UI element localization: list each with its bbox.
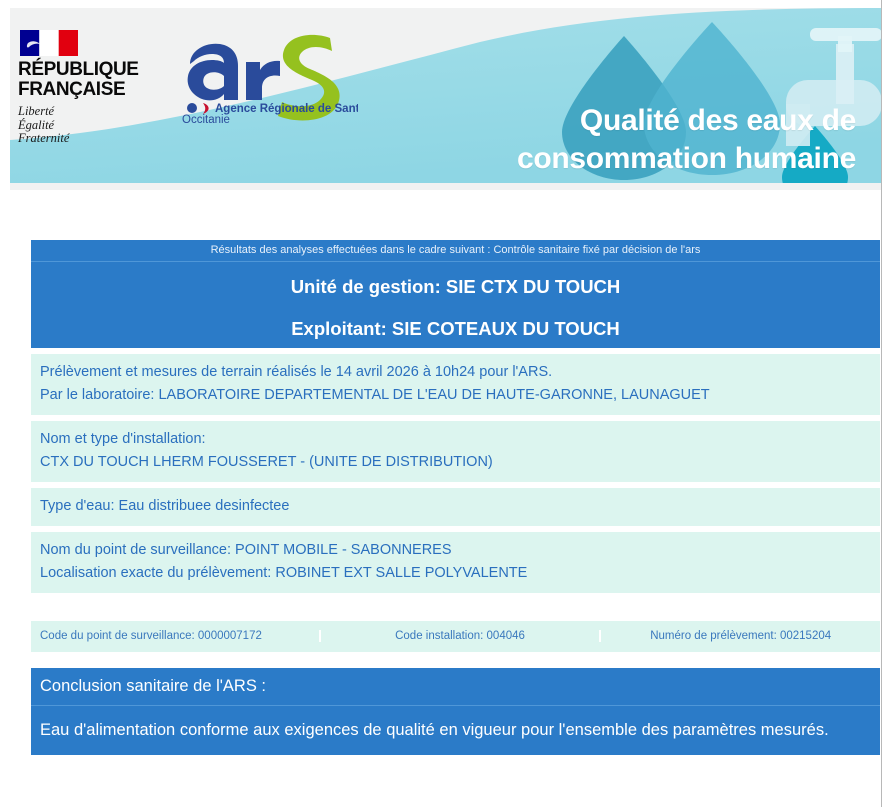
- monitoring-point-line: Nom du point de surveillance: POINT MOBI…: [40, 539, 871, 562]
- numero-prelevement: Numéro de prélèvement: 00215204: [601, 630, 880, 642]
- conclusion-panel: Conclusion sanitaire de l'ARS : Eau d'al…: [31, 668, 880, 755]
- rf-line-1: RÉPUBLIQUE: [18, 60, 178, 80]
- report-context-strip: Résultats des analyses effectuées dans l…: [31, 240, 880, 262]
- info-row-water-type: Type d'eau: Eau distribuee desinfectee: [31, 488, 880, 526]
- codes-row: Code du point de surveillance: 000000717…: [31, 621, 880, 652]
- installation-label: Nom et type d'installation:: [40, 428, 871, 451]
- motto-liberte: Liberté: [18, 105, 178, 119]
- republique-francaise-title: RÉPUBLIQUE FRANÇAISE: [18, 60, 178, 100]
- info-row-monitoring-point: Nom du point de surveillance: POINT MOBI…: [31, 532, 880, 593]
- ars-occitanie-logo: Agence Régionale de Santé Occitanie: [182, 30, 358, 124]
- page-right-rule: [881, 0, 882, 807]
- page-title-line-1: Qualité des eaux de: [336, 102, 856, 140]
- installation-value: CTX DU TOUCH LHERM FOUSSERET - (UNITE DE…: [40, 451, 871, 474]
- motto-fraternite: Fraternité: [18, 132, 178, 146]
- rf-line-2: FRANÇAISE: [18, 80, 178, 100]
- code-point-surveillance: Code du point de surveillance: 000000717…: [31, 630, 321, 642]
- spacer: [31, 593, 880, 621]
- page-header-banner: RÉPUBLIQUE FRANÇAISE Liberté Égalité Fra…: [10, 8, 882, 190]
- conclusion-body: Eau d'alimentation conforme aux exigence…: [31, 706, 880, 755]
- motto-egalite: Égalité: [18, 119, 178, 133]
- page-title-line-2: consommation humaine: [336, 140, 856, 178]
- exact-location-line: Localisation exacte du prélèvement: ROBI…: [40, 562, 871, 585]
- info-row-installation: Nom et type d'installation: CTX DU TOUCH…: [31, 421, 880, 482]
- republique-francaise-motto: Liberté Égalité Fraternité: [18, 105, 178, 146]
- republique-francaise-logo: RÉPUBLIQUE FRANÇAISE Liberté Égalité Fra…: [18, 30, 178, 146]
- water-type-line: Type d'eau: Eau distribuee desinfectee: [40, 495, 871, 518]
- exploitant: Exploitant: SIE COTEAUX DU TOUCH: [31, 318, 880, 340]
- report-identity-block: Unité de gestion: SIE CTX DU TOUCH Explo…: [31, 262, 880, 348]
- info-row-sampling: Prélèvement et mesures de terrain réalis…: [31, 354, 880, 415]
- unite-de-gestion: Unité de gestion: SIE CTX DU TOUCH: [31, 276, 880, 298]
- sampling-date-line: Prélèvement et mesures de terrain réalis…: [40, 361, 871, 384]
- svg-text:Occitanie: Occitanie: [182, 114, 230, 124]
- analysis-report-panel: Résultats des analyses effectuées dans l…: [31, 240, 880, 652]
- laboratory-line: Par le laboratoire: LABORATOIRE DEPARTEM…: [40, 384, 871, 407]
- page-title: Qualité des eaux de consommation humaine: [336, 102, 856, 178]
- code-installation: Code installation: 004046: [321, 630, 602, 642]
- conclusion-heading: Conclusion sanitaire de l'ARS :: [31, 668, 880, 706]
- french-flag-icon: [20, 30, 78, 56]
